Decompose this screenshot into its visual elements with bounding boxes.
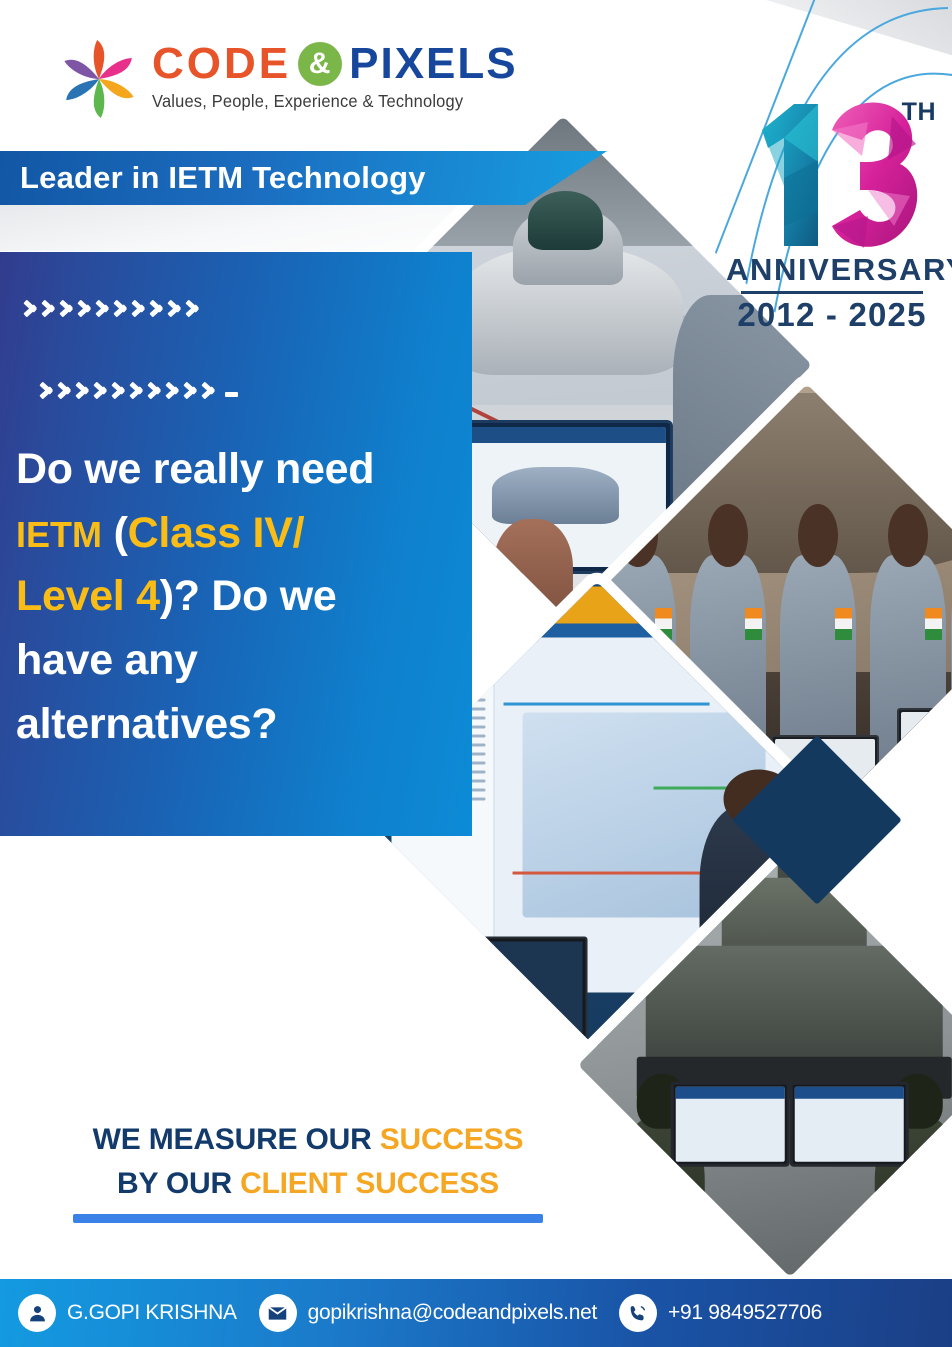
contact-footer: G.GOPI KRISHNA gopikrishna@codeandpixels… xyxy=(0,1279,952,1347)
headline-ietm-highlight: IETM xyxy=(16,514,102,555)
chevron-icon xyxy=(40,375,54,401)
chevron-icon xyxy=(24,293,38,319)
company-logo: CODE & PIXELS Values, People, Experience… xyxy=(58,36,488,136)
chevron-icon xyxy=(78,293,92,319)
contact-person-name: G.GOPI KRISHNA xyxy=(67,1301,237,1325)
chevron-icon xyxy=(96,293,110,319)
chevron-icon xyxy=(58,375,72,401)
chevron-icon xyxy=(148,375,162,401)
leader-banner-label: Leader in IETM Technology xyxy=(20,160,426,196)
chevron-icon xyxy=(168,293,182,319)
chevron-icon xyxy=(60,293,74,319)
anniversary-ordinal-suffix: TH xyxy=(902,98,936,127)
tagline-line-2: BY OUR CLIENT SUCCESS xyxy=(73,1162,543,1206)
anniversary-years: 2012 - 2025 xyxy=(726,296,938,334)
chevron-icon xyxy=(42,293,56,319)
logo-wordmark: CODE & PIXELS Values, People, Experience… xyxy=(152,36,518,112)
tagline-underline-bar xyxy=(73,1214,543,1223)
chevron-icon xyxy=(112,375,126,401)
contact-email[interactable]: gopikrishna@codeandpixels.net xyxy=(259,1294,597,1332)
pinwheel-logo-icon xyxy=(58,38,140,120)
tagline-line-1-dark: WE MEASURE OUR xyxy=(93,1123,380,1156)
chevron-icon xyxy=(130,375,144,401)
logo-ampersand-badge: & xyxy=(298,42,342,86)
chevron-row-top xyxy=(24,293,204,319)
anniversary-badge: TH ANNIVERSARY 2012 - 2025 xyxy=(726,86,938,334)
headline-part-3: ( xyxy=(102,509,128,557)
chevron-icon xyxy=(114,293,128,319)
leader-banner: Leader in IETM Technology xyxy=(0,151,607,205)
contact-person[interactable]: G.GOPI KRISHNA xyxy=(18,1294,237,1332)
logo-tagline: Values, People, Experience & Technology xyxy=(152,91,496,112)
tagline-line-2-orange: CLIENT SUCCESS xyxy=(240,1167,499,1200)
chevron-icon xyxy=(202,375,216,401)
tagline-line-1: WE MEASURE OUR SUCCESS xyxy=(73,1118,543,1162)
anniversary-divider xyxy=(741,291,923,294)
contact-phone-number: +91 9849527706 xyxy=(668,1301,822,1325)
chevron-icon xyxy=(94,375,108,401)
chevron-icon xyxy=(186,293,200,319)
tagline-block: WE MEASURE OUR SUCCESS BY OUR CLIENT SUC… xyxy=(73,1118,543,1223)
envelope-icon xyxy=(259,1294,297,1332)
chevron-row-bottom xyxy=(40,375,238,401)
tagline-line-2-dark: BY OUR xyxy=(117,1167,240,1200)
chevron-icon xyxy=(132,293,146,319)
hero-headline: Do we really need IETM (Class IV/ Level … xyxy=(16,438,396,756)
phone-icon xyxy=(619,1294,657,1332)
anniversary-number-graphic: TH xyxy=(726,86,938,258)
chevron-icon xyxy=(184,375,198,401)
logo-pixels-text: PIXELS xyxy=(349,42,518,86)
headline-part-1: Do we really need xyxy=(16,445,374,493)
contact-phone[interactable]: +91 9849527706 xyxy=(619,1294,822,1332)
chevron-icon xyxy=(76,375,90,401)
chevron-icon xyxy=(150,293,164,319)
logo-code-text: CODE xyxy=(152,42,291,86)
person-icon xyxy=(18,1294,56,1332)
poster-canvas: CODE & PIXELS Values, People, Experience… xyxy=(0,0,952,1347)
chevron-dash-icon xyxy=(225,392,238,397)
contact-email-address: gopikrishna@codeandpixels.net xyxy=(308,1301,597,1325)
tagline-line-1-orange: SUCCESS xyxy=(380,1123,524,1156)
chevron-icon xyxy=(166,375,180,401)
